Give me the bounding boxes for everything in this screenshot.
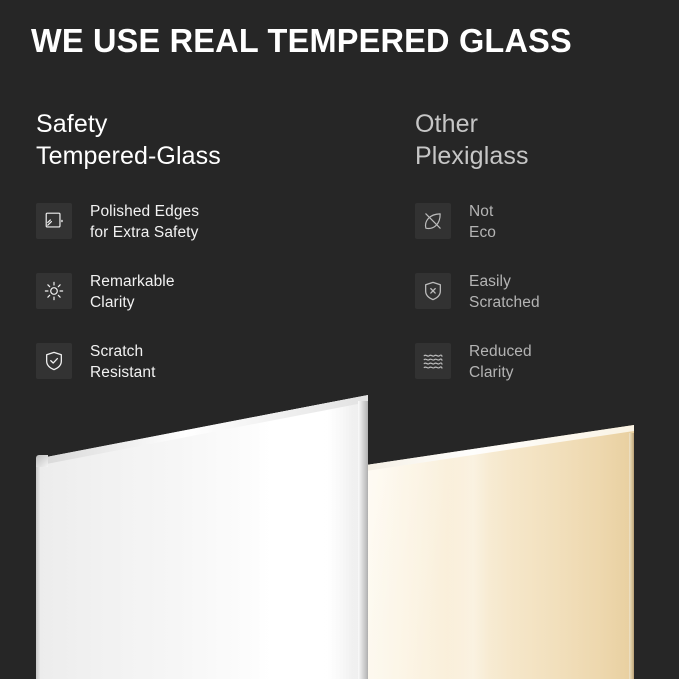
feature-not-eco: Not Eco <box>415 201 665 243</box>
feature-scratch-resistant-line1: Scratch <box>90 343 143 360</box>
feature-reduced-clarity: Reduced Clarity <box>415 341 665 383</box>
feature-polished-edges-line1: Polished Edges <box>90 203 199 220</box>
polished-edge-icon <box>36 203 72 239</box>
column-plexiglass: Other Plexiglass Not Eco <box>415 108 665 383</box>
page-title: WE USE REAL TEMPERED GLASS <box>31 20 642 62</box>
feature-not-eco-label: Not Eco <box>469 201 496 243</box>
feature-not-eco-line2: Eco <box>469 223 496 244</box>
column-title-left-line1: Safety <box>36 110 107 138</box>
feature-polished-edges-label: Polished Edges for Extra Safety <box>90 201 199 243</box>
feature-remarkable-clarity-label: Remarkable Clarity <box>90 271 175 313</box>
feature-reduced-clarity-label: Reduced Clarity <box>469 341 532 383</box>
feature-remarkable-clarity-line1: Remarkable <box>90 273 175 290</box>
tempered-glass-panel-corner <box>36 455 48 467</box>
product-photo <box>0 395 679 679</box>
feature-easily-scratched-label: Easily Scratched <box>469 271 540 313</box>
column-tempered-glass: Safety Tempered-Glass Polished Edges for… <box>36 108 366 383</box>
column-title-right-line2: Plexiglass <box>415 140 665 172</box>
tempered-glass-panel <box>36 395 368 679</box>
feature-polished-edges-line2: for Extra Safety <box>90 223 199 244</box>
feature-polished-edges: Polished Edges for Extra Safety <box>36 201 366 243</box>
feature-list-left: Polished Edges for Extra Safety <box>36 201 366 383</box>
feature-scratch-resistant-line2: Resistant <box>90 363 156 384</box>
feature-easily-scratched: Easily Scratched <box>415 271 665 313</box>
comparison-infographic: WE USE REAL TEMPERED GLASS Safety Temper… <box>0 0 679 679</box>
column-title-right: Other Plexiglass <box>415 108 665 172</box>
column-title-right-line1: Other <box>415 110 478 138</box>
leaf-crossed-out-icon <box>415 203 451 239</box>
feature-easily-scratched-line1: Easily <box>469 273 511 290</box>
feature-remarkable-clarity-line2: Clarity <box>90 293 175 314</box>
feature-list-right: Not Eco Easily Scratched <box>415 201 665 383</box>
feature-scratch-resistant: Scratch Resistant <box>36 341 366 383</box>
shield-x-icon <box>415 273 451 309</box>
sun-clarity-icon <box>36 273 72 309</box>
feature-scratch-resistant-label: Scratch Resistant <box>90 341 156 383</box>
feature-easily-scratched-line2: Scratched <box>469 293 540 314</box>
feature-remarkable-clarity: Remarkable Clarity <box>36 271 366 313</box>
feature-reduced-clarity-line1: Reduced <box>469 343 532 360</box>
wavy-lines-icon <box>415 343 451 379</box>
column-title-left-line2: Tempered-Glass <box>36 140 366 172</box>
feature-reduced-clarity-line2: Clarity <box>469 363 532 384</box>
column-title-left: Safety Tempered-Glass <box>36 108 366 172</box>
feature-not-eco-line1: Not <box>469 203 493 220</box>
plexiglass-panel <box>366 395 634 679</box>
tempered-glass-panel-left-edge <box>36 459 40 679</box>
shield-check-icon <box>36 343 72 379</box>
tempered-glass-panel-right-edge <box>358 401 368 679</box>
plexiglass-panel-right-edge <box>629 433 634 679</box>
